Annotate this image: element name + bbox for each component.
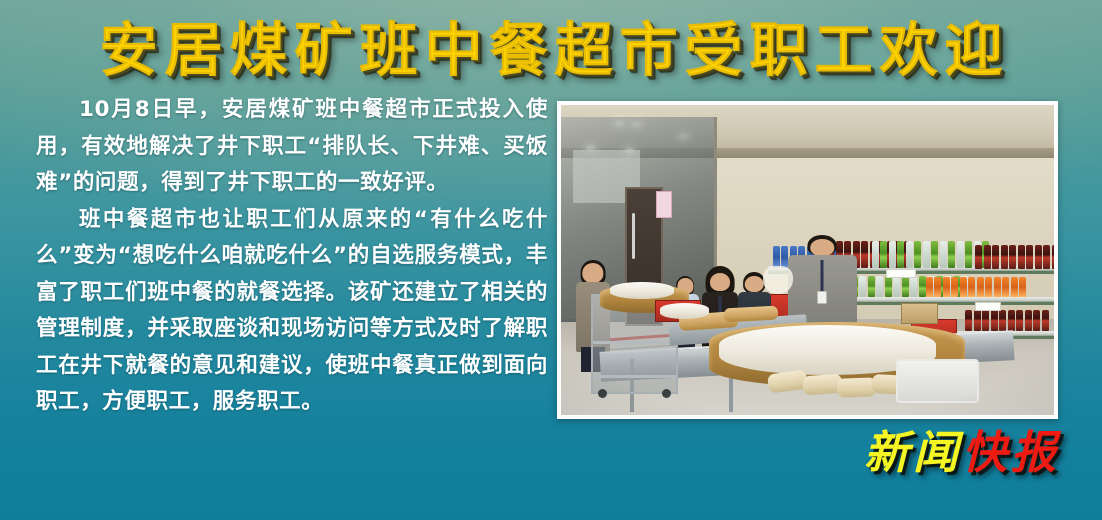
- flatbread-stack: [723, 305, 778, 322]
- article-body: 10月8日早，安居煤矿班中餐超市正式投入使用，有效地解决了井下职工“排队长、下井…: [36, 92, 548, 421]
- photo-supermarket-interior: [561, 105, 1054, 415]
- plastic-bag: [763, 266, 793, 294]
- bottle-group-cola-right: [975, 245, 1054, 270]
- cloth-cover: [610, 282, 674, 299]
- white-basket: [896, 359, 979, 403]
- wall-notice: [656, 191, 672, 218]
- news-poster: 安居煤矿班中餐超市受职工欢迎 10月8日早，安居煤矿班中餐超市正式投入使用，有效…: [0, 0, 1102, 520]
- headline: 安居煤矿班中餐超市受职工欢迎: [0, 14, 1102, 86]
- price-tag: [886, 269, 916, 278]
- rolled-pancake: [837, 377, 877, 397]
- shelf-row-mid: [832, 297, 1054, 305]
- article-paragraph-1: 10月8日早，安居煤矿班中餐超市正式投入使用，有效地解决了井下职工“排队长、下井…: [36, 92, 548, 202]
- cardboard-box: [901, 303, 938, 324]
- headline-text: 安居煤矿班中餐超市受职工欢迎: [92, 21, 1009, 79]
- kicker-stamp: 新闻快报: [864, 430, 1060, 475]
- bottle-group-green: [872, 241, 991, 267]
- kicker-part-bulletin: 快报: [962, 426, 1060, 479]
- article-paragraph-2: 班中餐超市也让职工们从原来的“有什么吃什么”变为“想吃什么咱就吃什么”的自选服务…: [36, 202, 548, 421]
- cloth-cover: [660, 303, 709, 319]
- price-tag: [975, 302, 1001, 311]
- door-handle: [632, 213, 634, 259]
- bottle-group-orange: [926, 277, 1028, 297]
- bottle-group-cola-bottom: [965, 310, 1050, 332]
- kicker-part-news: 新闻: [864, 426, 962, 479]
- photo-frame: [557, 101, 1058, 419]
